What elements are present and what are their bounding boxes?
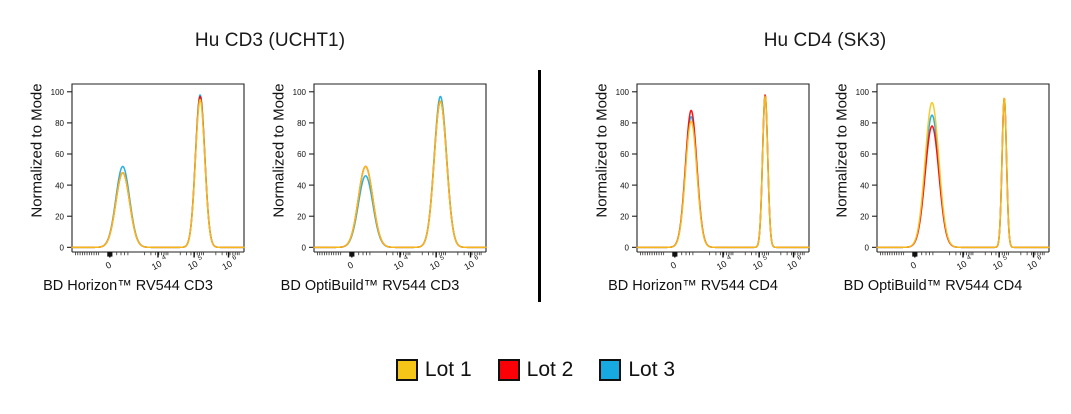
legend-item-lot-3: Lot 3 xyxy=(599,358,675,382)
svg-text:10: 10 xyxy=(1025,259,1039,273)
svg-text:100: 100 xyxy=(51,88,65,97)
svg-text:60: 60 xyxy=(620,150,629,159)
histogram-panel-1: Normalized to Mode 020406080100010410510… xyxy=(250,78,490,306)
svg-text:10: 10 xyxy=(462,259,476,273)
legend-label-lot-2: Lot 2 xyxy=(527,358,574,382)
svg-text:10: 10 xyxy=(955,259,969,273)
svg-text:100: 100 xyxy=(293,88,307,97)
flow-cytometry-figure: Hu CD3 (UCHT1) Hu CD4 (SK3) Normalized t… xyxy=(0,0,1071,414)
svg-text:5: 5 xyxy=(439,254,446,262)
svg-text:20: 20 xyxy=(620,212,629,221)
histogram-plot-2: 0204060801000104105106 xyxy=(573,78,813,278)
group-title-cd3: Hu CD3 (UCHT1) xyxy=(120,30,420,52)
histogram-plot-1: 0204060801000104105106 xyxy=(250,78,490,278)
svg-text:60: 60 xyxy=(297,150,306,159)
section-divider xyxy=(538,70,541,302)
svg-text:5: 5 xyxy=(1002,254,1009,262)
svg-text:10: 10 xyxy=(220,259,234,273)
svg-text:5: 5 xyxy=(197,254,204,262)
svg-text:10: 10 xyxy=(186,259,200,273)
group-title-cd4: Hu CD4 (SK3) xyxy=(700,30,950,52)
svg-text:40: 40 xyxy=(297,181,306,190)
svg-text:60: 60 xyxy=(860,150,869,159)
svg-text:20: 20 xyxy=(55,212,64,221)
legend-item-lot-1: Lot 1 xyxy=(396,358,472,382)
svg-text:20: 20 xyxy=(860,212,869,221)
svg-text:100: 100 xyxy=(856,88,870,97)
svg-text:0: 0 xyxy=(865,244,870,253)
svg-text:10: 10 xyxy=(785,259,799,273)
svg-text:10: 10 xyxy=(715,259,729,273)
svg-text:100: 100 xyxy=(616,88,630,97)
svg-text:40: 40 xyxy=(860,181,869,190)
legend-swatch-lot-1 xyxy=(396,359,418,381)
svg-text:10: 10 xyxy=(150,259,164,273)
svg-text:4: 4 xyxy=(726,254,733,262)
svg-text:10: 10 xyxy=(392,259,406,273)
svg-text:0: 0 xyxy=(625,244,630,253)
legend: Lot 1 Lot 2 Lot 3 xyxy=(0,358,1071,382)
legend-swatch-lot-2 xyxy=(498,359,520,381)
legend-label-lot-3: Lot 3 xyxy=(628,358,675,382)
histogram-plot-3: 0204060801000104105106 xyxy=(813,78,1053,278)
svg-text:10: 10 xyxy=(751,259,765,273)
svg-text:0: 0 xyxy=(302,244,307,253)
svg-text:80: 80 xyxy=(55,119,64,128)
svg-text:4: 4 xyxy=(966,254,973,262)
histogram-panel-3: Normalized to Mode 020406080100010410510… xyxy=(813,78,1053,306)
svg-text:0: 0 xyxy=(346,260,355,271)
x-axis-label-3: BD OptiBuild™ RV544 CD4 xyxy=(813,278,1053,294)
svg-text:40: 40 xyxy=(620,181,629,190)
svg-text:20: 20 xyxy=(297,212,306,221)
svg-text:4: 4 xyxy=(403,254,410,262)
legend-item-lot-2: Lot 2 xyxy=(498,358,574,382)
svg-text:60: 60 xyxy=(55,150,64,159)
histogram-panel-2: Normalized to Mode 020406080100010410510… xyxy=(573,78,813,306)
svg-text:80: 80 xyxy=(860,119,869,128)
svg-text:0: 0 xyxy=(909,260,918,271)
svg-text:0: 0 xyxy=(60,244,65,253)
histogram-panel-0: Normalized to Mode 020406080100010410510… xyxy=(8,78,248,306)
x-axis-label-2: BD Horizon™ RV544 CD4 xyxy=(573,278,813,294)
x-axis-label-0: BD Horizon™ RV544 CD3 xyxy=(8,278,248,294)
legend-label-lot-1: Lot 1 xyxy=(425,358,472,382)
svg-text:0: 0 xyxy=(669,260,678,271)
legend-swatch-lot-3 xyxy=(599,359,621,381)
svg-text:80: 80 xyxy=(297,119,306,128)
x-axis-label-1: BD OptiBuild™ RV544 CD3 xyxy=(250,278,490,294)
svg-text:4: 4 xyxy=(161,254,168,262)
histogram-plot-0: 0204060801000104105106 xyxy=(8,78,248,278)
svg-text:5: 5 xyxy=(762,254,769,262)
svg-text:10: 10 xyxy=(991,259,1005,273)
svg-text:10: 10 xyxy=(428,259,442,273)
svg-text:40: 40 xyxy=(55,181,64,190)
svg-text:0: 0 xyxy=(104,260,113,271)
svg-text:80: 80 xyxy=(620,119,629,128)
